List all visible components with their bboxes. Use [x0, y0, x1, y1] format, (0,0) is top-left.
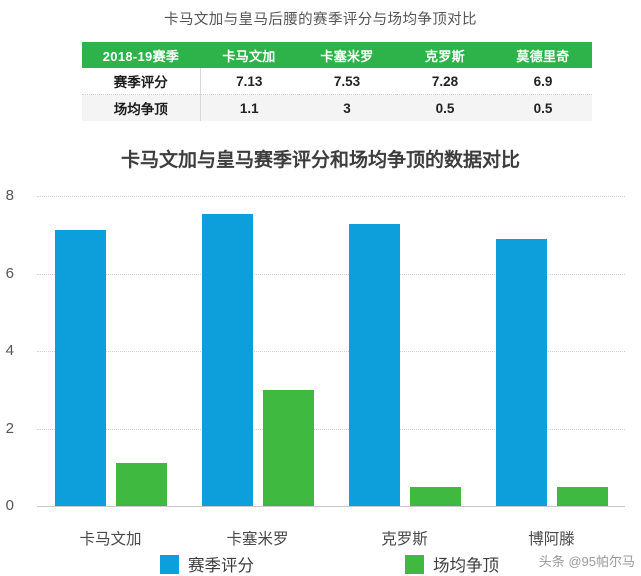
table-header-row: 2018-19赛季 卡马文加 卡塞米罗 克罗斯 莫德里奇 [82, 42, 592, 68]
cell-aerials-3: 0.5 [494, 95, 592, 122]
table-row: 场均争顶 1.1 3 0.5 0.5 [82, 95, 592, 122]
bar-赛季评分-博阿滕[interactable] [496, 239, 547, 506]
legend-label-aerials: 场均争顶 [433, 552, 499, 576]
cell-aerials-2: 0.5 [396, 95, 494, 122]
legend-item-aerials[interactable]: 场均争顶 [405, 552, 499, 576]
x-axis-tick-label: 克罗斯 [345, 527, 465, 549]
gridline [37, 196, 625, 197]
legend-item-rating[interactable]: 赛季评分 [160, 552, 254, 576]
cell-rating-0: 7.13 [200, 68, 298, 95]
bar-场均争顶-博阿滕[interactable] [557, 487, 608, 506]
bar-场均争顶-卡塞米罗[interactable] [263, 390, 314, 506]
bar-场均争顶-卡马文加[interactable] [116, 463, 167, 506]
y-axis-tick-label: 6 [0, 265, 14, 282]
stat-table-head: 2018-19赛季 卡马文加 卡塞米罗 克罗斯 莫德里奇 [82, 42, 592, 68]
table-row: 赛季评分 7.13 7.53 7.28 6.9 [82, 68, 592, 95]
row-label-rating: 赛季评分 [82, 68, 200, 95]
stat-table: 2018-19赛季 卡马文加 卡塞米罗 克罗斯 莫德里奇 赛季评分 7.13 7… [82, 42, 592, 121]
cell-aerials-0: 1.1 [200, 95, 298, 122]
y-axis-tick-label: 8 [0, 187, 14, 204]
table-header-cell-2: 卡塞米罗 [298, 42, 396, 68]
x-axis-tick-label: 博阿滕 [492, 527, 612, 549]
watermark: 头条 @95帕尔马 [539, 551, 635, 570]
bar-场均争顶-克罗斯[interactable] [410, 487, 461, 506]
axis-line-x [37, 506, 625, 507]
chart-title: 卡马文加与皇马赛季评分和场均争顶的数据对比 [0, 145, 641, 172]
legend-label-rating: 赛季评分 [188, 552, 254, 576]
chart-plot-area: 02468卡马文加卡塞米罗克罗斯博阿滕 [37, 196, 625, 506]
cell-rating-3: 6.9 [494, 68, 592, 95]
table-header-cell-1: 卡马文加 [200, 42, 298, 68]
legend-swatch-icon [160, 555, 179, 574]
y-axis-tick-label: 0 [0, 497, 14, 514]
bar-赛季评分-卡马文加[interactable] [55, 230, 106, 506]
bar-赛季评分-克罗斯[interactable] [349, 224, 400, 506]
cell-aerials-1: 3 [298, 95, 396, 122]
page-heading: 卡马文加与皇马后腰的赛季评分与场均争顶对比 [0, 8, 641, 29]
table-header-cell-0: 2018-19赛季 [82, 42, 200, 68]
x-axis-tick-label: 卡塞米罗 [198, 527, 318, 549]
legend-swatch-icon [405, 555, 424, 574]
bar-赛季评分-卡塞米罗[interactable] [202, 214, 253, 506]
y-axis-tick-label: 4 [0, 342, 14, 359]
x-axis-tick-label: 卡马文加 [51, 527, 171, 549]
table-header-cell-4: 莫德里奇 [494, 42, 592, 68]
cell-rating-1: 7.53 [298, 68, 396, 95]
y-axis-tick-label: 2 [0, 420, 14, 437]
stat-table-body: 赛季评分 7.13 7.53 7.28 6.9 场均争顶 1.1 3 0.5 0… [82, 68, 592, 121]
table-header-cell-3: 克罗斯 [396, 42, 494, 68]
cell-rating-2: 7.28 [396, 68, 494, 95]
row-label-aerials: 场均争顶 [82, 95, 200, 122]
bar-chart: 02468卡马文加卡塞米罗克罗斯博阿滕 [0, 180, 641, 575]
